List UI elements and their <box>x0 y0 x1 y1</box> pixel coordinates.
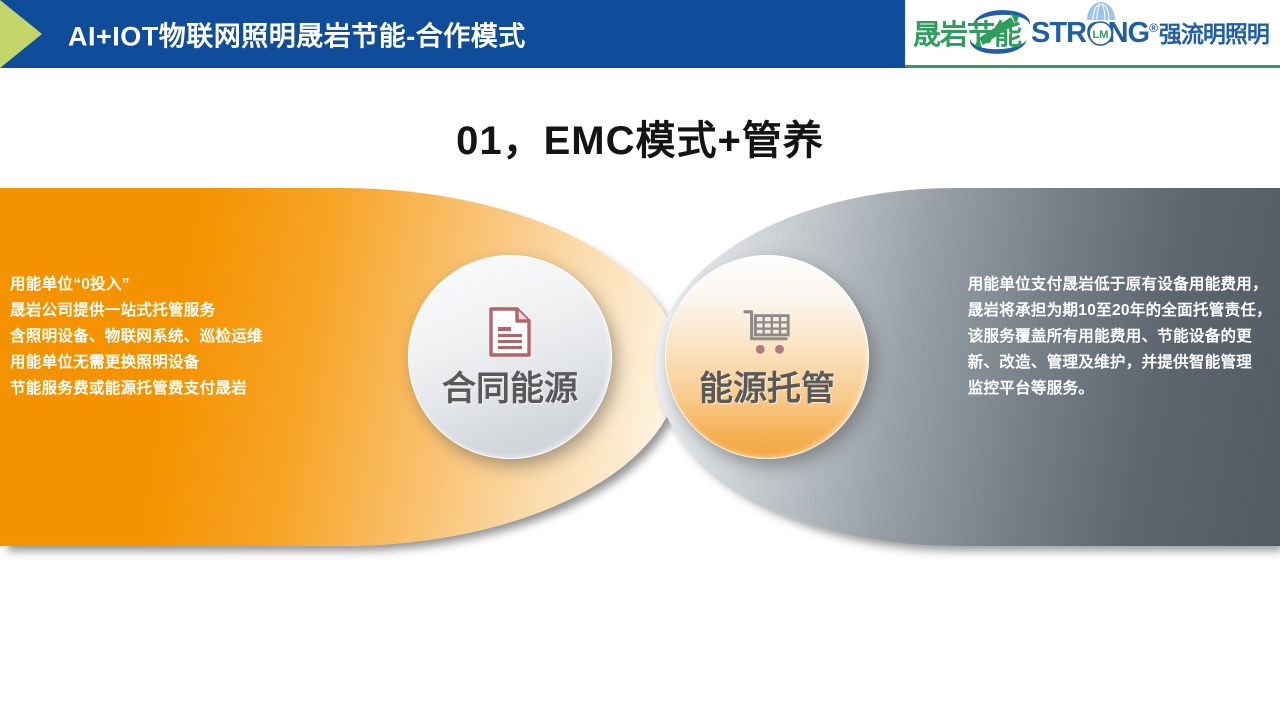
header-arrow-icon <box>0 0 42 68</box>
energy-trusteeship-label: 能源托管 <box>699 361 835 410</box>
right-text-line: 新、改造、管理及维护，并提供智能管理 <box>968 350 1272 376</box>
energy-trusteeship-badge: 能源托管 <box>665 255 869 459</box>
logo-registered-mark: ® <box>1149 21 1158 35</box>
logo-sub-brand-text: 强流明照明 <box>1159 15 1269 49</box>
svg-text:LM: LM <box>1093 29 1109 41</box>
contract-energy-badge: 合同能源 <box>408 255 612 459</box>
left-text-line: 晟岩公司提供一站式托管服务 <box>10 298 263 324</box>
left-text-line: 节能服务费或能源托管费支付晟岩 <box>10 376 263 402</box>
brand-logo: 晟岩节能 LM STRONG ® 强流明照明 <box>905 0 1280 68</box>
right-text-line: 用能单位支付晟岩低于原有设备用能费用， <box>968 272 1272 298</box>
logo-english-brand: LM STRONG ® 强流明照明 <box>1031 15 1269 50</box>
left-panel-text: 用能单位“0投入” 晟岩公司提供一站式托管服务 含照明设备、物联网系统、巡检运维… <box>10 272 263 402</box>
contract-energy-label: 合同能源 <box>442 361 578 410</box>
logo-chinese-text: 晟岩节能 <box>913 13 1021 53</box>
left-text-line: 用能单位“0投入” <box>10 272 263 298</box>
logo-fan-icon <box>1085 2 1117 20</box>
right-panel-text: 用能单位支付晟岩低于原有设备用能费用， 晟岩将承担为期10至20年的全面托管责任… <box>968 272 1272 402</box>
slide-heading: 01，EMC模式+管养 <box>0 108 1280 166</box>
document-icon <box>483 305 537 359</box>
right-text-line: 该服务覆盖所有用能费用、节能设备的更 <box>968 324 1272 350</box>
left-text-line: 含照明设备、物联网系统、巡检运维 <box>10 324 263 350</box>
page-title: AI+IOT物联网照明晟岩节能-合作模式 <box>68 15 526 54</box>
shopping-cart-icon <box>740 305 794 359</box>
logo-chinese-brand: 晟岩节能 <box>913 8 1021 58</box>
right-text-line: 晟岩将承担为期10至20年的全面托管责任， <box>968 298 1272 324</box>
left-text-line: 用能单位无需更换照明设备 <box>10 350 263 376</box>
logo-lm-icon: LM <box>1088 21 1113 46</box>
right-text-line: 监控平台等服务。 <box>968 376 1272 402</box>
